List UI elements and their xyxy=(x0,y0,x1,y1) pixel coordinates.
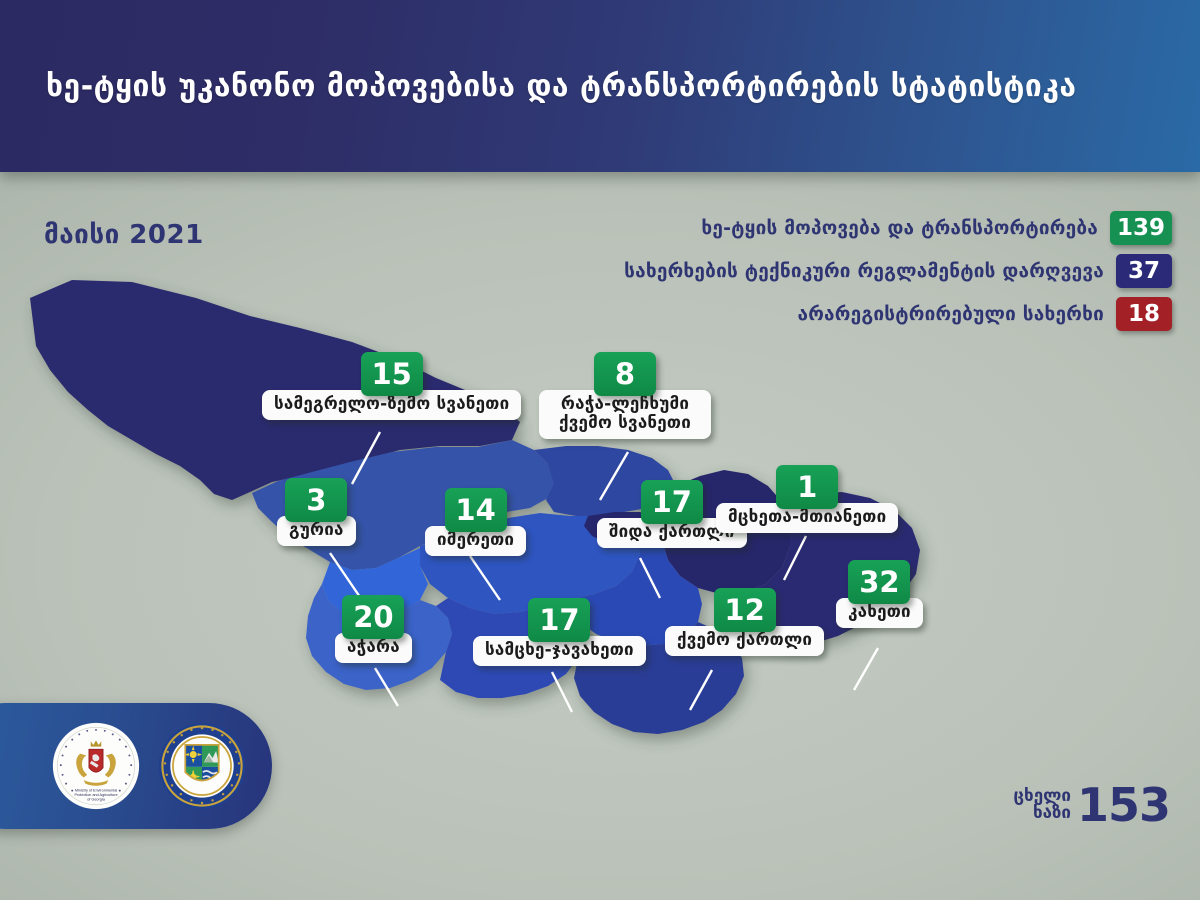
region-value: 1 xyxy=(776,465,838,509)
region-value: 32 xyxy=(848,560,910,604)
leader-line-mtskheta xyxy=(784,536,806,580)
leader-line-racha xyxy=(600,452,628,500)
leader-line-samegrelo xyxy=(352,432,380,484)
region-value: 14 xyxy=(445,488,507,532)
infographic-root: ხე-ტყის უკანონო მოპოვებისა და ტრანსპორტი… xyxy=(0,0,1200,900)
leader-line-guria xyxy=(330,553,362,600)
region-value: 3 xyxy=(285,478,347,522)
region-value: 8 xyxy=(594,352,656,396)
leader-lines xyxy=(0,0,1200,900)
callout-kakheti[interactable]: 32 კახეთი xyxy=(836,560,923,628)
leader-line-shida-kartli xyxy=(640,558,660,598)
region-value: 17 xyxy=(641,480,703,524)
region-value: 12 xyxy=(714,588,776,632)
region-name: რაჭა-ლეჩხუმი ქვემო სვანეთი xyxy=(539,390,711,439)
leader-line-kvemo-kartli xyxy=(690,670,712,710)
leader-line-adjara xyxy=(375,668,398,706)
leader-line-samtskhe xyxy=(552,672,572,712)
callout-adjara[interactable]: 20 აჭარა xyxy=(335,595,412,663)
region-value: 15 xyxy=(361,352,423,396)
leader-line-imereti xyxy=(470,556,500,600)
region-value: 20 xyxy=(342,595,404,639)
callout-guria[interactable]: 3 გურია xyxy=(277,478,356,546)
leader-line-kakheti xyxy=(854,648,878,690)
region-value: 17 xyxy=(528,598,590,642)
